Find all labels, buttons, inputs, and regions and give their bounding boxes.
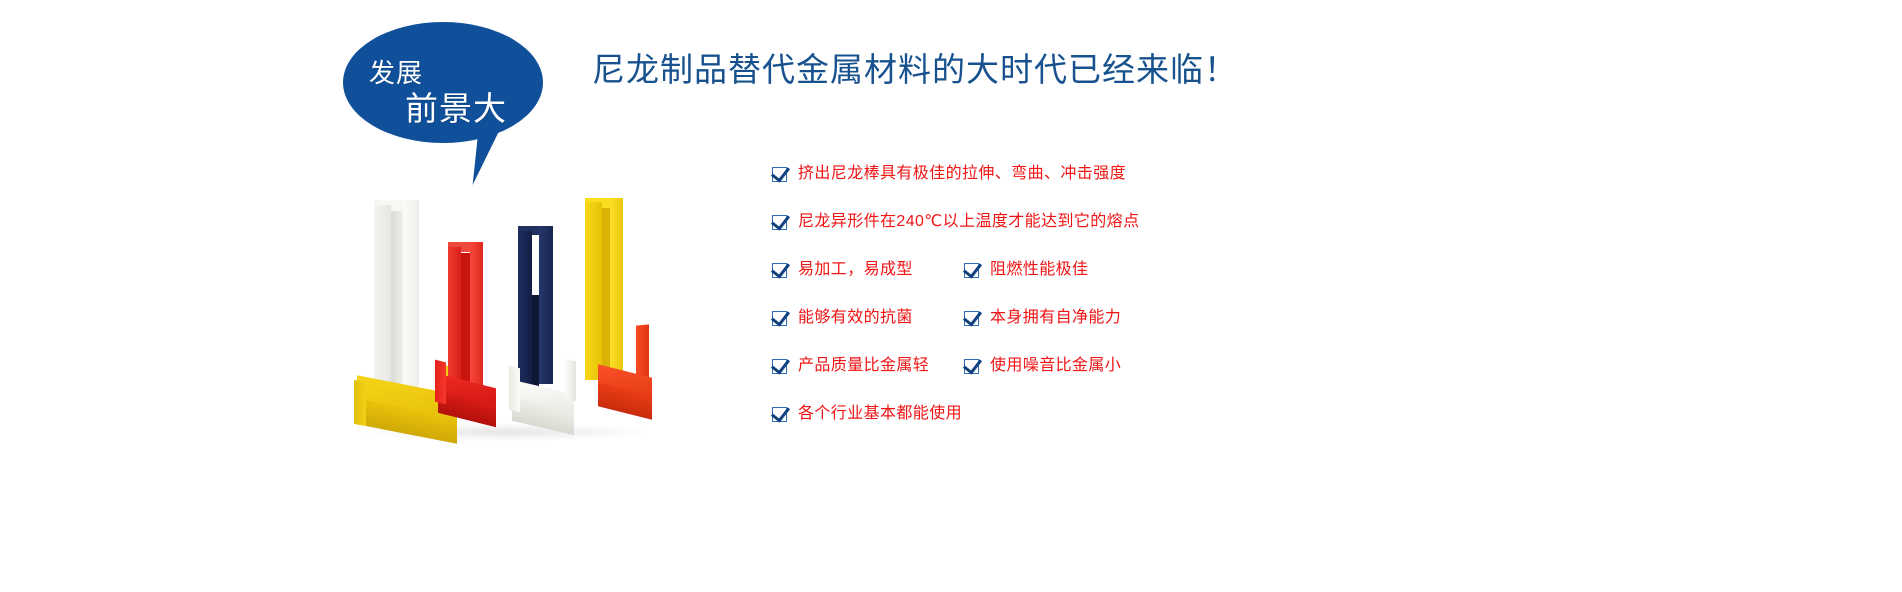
check-square-icon [772,407,787,422]
feature-item: 使用噪音比金属小 [964,358,1121,374]
check-square-icon [964,263,979,278]
check-square-icon [772,311,787,326]
feature-label: 能够有效的抗菌 [798,310,913,326]
check-square-icon [772,215,787,230]
feature-item: 易加工，易成型 [772,262,964,278]
feature-item: 能够有效的抗菌 [772,310,964,326]
check-square-icon [772,263,787,278]
feature-label: 尼龙异形件在240℃以上温度才能达到它的熔点 [798,214,1139,230]
speech-bubble-line-2: 前景大 [405,92,507,125]
feature-label: 使用噪音比金属小 [990,358,1121,374]
promo-banner: 发展 前景大 尼龙制品替代金属材料的大时代已经来临！ [0,0,1902,592]
feature-label: 阻燃性能极佳 [990,262,1088,278]
feature-row: 易加工，易成型 阻燃性能极佳 [772,246,1472,294]
feature-list: 挤出尼龙棒具有极佳的拉伸、弯曲、冲击强度 尼龙异形件在240℃以上温度才能达到它… [772,150,1472,438]
feature-label: 本身拥有自净能力 [990,310,1121,326]
feature-item: 挤出尼龙棒具有极佳的拉伸、弯曲、冲击强度 [772,166,1126,182]
headline: 尼龙制品替代金属材料的大时代已经来临！ [592,52,1238,88]
feature-row: 能够有效的抗菌 本身拥有自净能力 [772,294,1472,342]
check-square-icon [772,359,787,374]
feature-label: 易加工，易成型 [798,262,913,278]
check-square-icon [964,311,979,326]
product-photo [352,195,692,465]
feature-row: 各个行业基本都能使用 [772,390,1472,438]
feature-item: 各个行业基本都能使用 [772,406,962,422]
feature-label: 产品质量比金属轻 [798,358,929,374]
feature-item: 尼龙异形件在240℃以上温度才能达到它的熔点 [772,214,1139,230]
feature-row: 挤出尼龙棒具有极佳的拉伸、弯曲、冲击强度 [772,150,1472,198]
feature-row: 产品质量比金属轻 使用噪音比金属小 [772,342,1472,390]
feature-item: 阻燃性能极佳 [964,262,1088,278]
feature-row: 尼龙异形件在240℃以上温度才能达到它的熔点 [772,198,1472,246]
feature-item: 产品质量比金属轻 [772,358,964,374]
feature-label: 挤出尼龙棒具有极佳的拉伸、弯曲、冲击强度 [798,166,1126,182]
feature-item: 本身拥有自净能力 [964,310,1121,326]
speech-bubble-line-1: 发展 [369,60,423,86]
speech-bubble-tail [473,121,506,185]
speech-bubble: 发展 前景大 [343,22,553,177]
check-square-icon [772,167,787,182]
feature-label: 各个行业基本都能使用 [798,406,962,422]
check-square-icon [964,359,979,374]
